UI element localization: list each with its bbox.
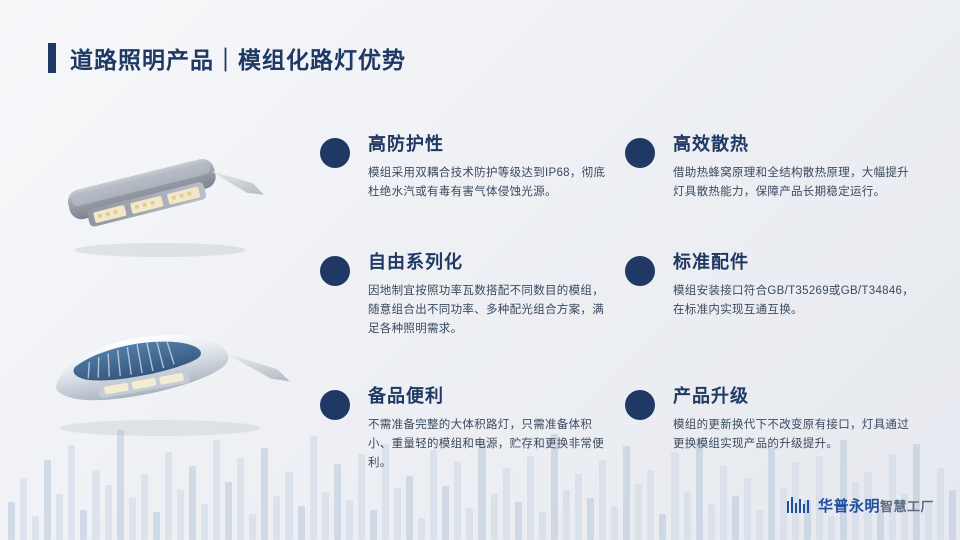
decor-bar <box>117 430 124 540</box>
decor-bar <box>189 466 196 540</box>
decor-bar <box>213 440 220 540</box>
decor-bar <box>418 518 425 540</box>
bullet-dot-icon <box>625 256 655 286</box>
decor-bar <box>949 490 956 540</box>
title-text: 道路照明产品｜模组化路灯优势 <box>70 41 406 75</box>
decor-bar <box>756 510 763 540</box>
decor-bar <box>587 498 594 540</box>
logo-text: 华普永明智慧工厂 <box>818 495 934 516</box>
page-title: 道路照明产品｜模组化路灯优势 <box>48 36 406 80</box>
decor-bar <box>68 445 75 540</box>
feature-description: 模组的更新换代下不改变原有接口，灯具通过更换模组实现产品的升级提升。 <box>673 416 915 454</box>
bullet-dot-icon <box>320 390 350 420</box>
feature-item-3: 自由系列化 因地制宜按照功率瓦数搭配不同数目的模组，随意组合出不同功率、多种配光… <box>320 248 610 339</box>
logo-brand: 华普永明 <box>818 498 880 515</box>
decor-bar <box>539 512 546 540</box>
feature-description: 模组采用双耦合技术防护等级达到IP68，彻底杜绝水汽或有毒有害气体侵蚀光源。 <box>368 164 610 202</box>
decor-bar <box>346 500 353 540</box>
bullet-dot-icon <box>625 138 655 168</box>
feature-title: 高效散热 <box>673 130 915 156</box>
feature-description: 不需准备完整的大体积路灯，只需准备体积小、重量轻的模组和电源，贮存和更换非常便利… <box>368 416 610 473</box>
decor-bar <box>466 508 473 540</box>
feature-item-1: 高防护性 模组采用双耦合技术防护等级达到IP68，彻底杜绝水汽或有毒有害气体侵蚀… <box>320 130 610 202</box>
logo-mark-icon <box>786 495 812 515</box>
decor-bar <box>285 472 292 540</box>
bullet-dot-icon <box>625 390 655 420</box>
decor-bar <box>732 496 739 540</box>
decor-bar <box>56 494 63 540</box>
feature-title: 备品便利 <box>368 382 610 408</box>
feature-description: 因地制宜按照功率瓦数搭配不同数目的模组，随意组合出不同功率、多种配光组合方案，满… <box>368 282 610 339</box>
decor-bar <box>298 506 305 540</box>
decor-bar <box>370 510 377 540</box>
title-accent-bar <box>48 43 56 73</box>
decor-bar <box>20 478 27 540</box>
feature-item-2: 高效散热 借助热蜂窝原理和全结构散热原理，大幅提升灯具散热能力，保障产品长期稳定… <box>625 130 915 202</box>
street-lamp-module-image <box>40 140 300 260</box>
decor-bar <box>165 452 172 540</box>
feature-description: 模组安装接口符合GB/T35269或GB/T34846，在标准内实现互通互换。 <box>673 282 915 320</box>
feature-item-6: 产品升级 模组的更新换代下不改变原有接口，灯具通过更换模组实现产品的升级提升。 <box>625 382 915 454</box>
decor-bar <box>491 494 498 540</box>
slide: 道路照明产品｜模组化路灯优势 <box>0 0 960 540</box>
feature-grid: 高防护性 模组采用双耦合技术防护等级达到IP68，彻底杜绝水汽或有毒有害气体侵蚀… <box>300 120 940 500</box>
bullet-dot-icon <box>320 256 350 286</box>
decor-bar <box>80 510 87 540</box>
logo-suffix: 智慧工厂 <box>880 499 934 514</box>
decor-bar <box>32 516 39 540</box>
street-lamp-classic-image <box>30 310 310 440</box>
feature-title: 自由系列化 <box>368 248 610 274</box>
decor-bar <box>8 502 15 540</box>
feature-title: 高防护性 <box>368 130 610 156</box>
decor-bar <box>141 474 148 540</box>
feature-item-4: 标准配件 模组安装接口符合GB/T35269或GB/T34846，在标准内实现互… <box>625 248 915 320</box>
decor-bar <box>659 514 666 540</box>
decor-bar <box>273 496 280 540</box>
decor-bar <box>105 485 112 540</box>
decor-bar <box>153 512 160 540</box>
decor-bar <box>201 504 208 540</box>
decor-bar <box>44 460 51 540</box>
decor-bar <box>237 458 244 540</box>
decor-bar <box>828 516 835 540</box>
decor-bar <box>177 490 184 540</box>
decor-bar <box>708 504 715 540</box>
feature-title: 标准配件 <box>673 248 915 274</box>
decor-bar <box>261 448 268 540</box>
decor-bar <box>249 514 256 540</box>
feature-description: 借助热蜂窝原理和全结构散热原理，大幅提升灯具散热能力，保障产品长期稳定运行。 <box>673 164 915 202</box>
decor-bar <box>129 498 136 540</box>
decor-bar <box>225 482 232 540</box>
decor-bar <box>515 502 522 540</box>
bullet-dot-icon <box>320 138 350 168</box>
company-logo: 华普永明智慧工厂 <box>786 494 934 516</box>
decor-bar <box>92 470 99 540</box>
decor-bar <box>611 506 618 540</box>
feature-title: 产品升级 <box>673 382 915 408</box>
feature-item-5: 备品便利 不需准备完整的大体积路灯，只需准备体积小、重量轻的模组和电源，贮存和更… <box>320 382 610 473</box>
